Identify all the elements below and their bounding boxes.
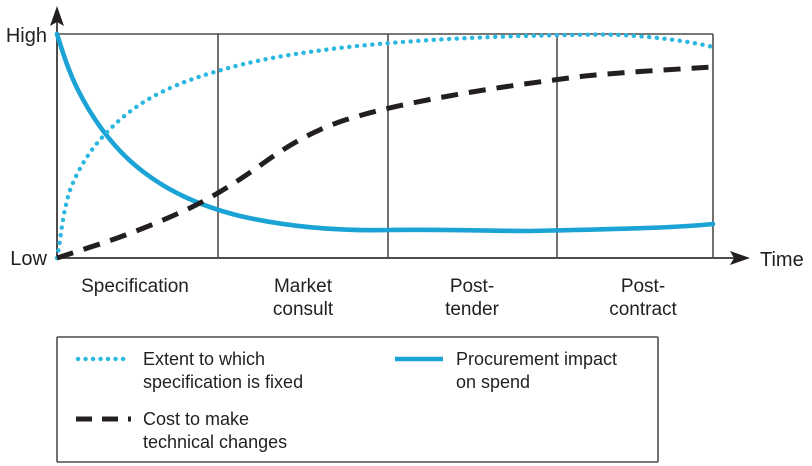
y-tick-low: Low [10,248,47,270]
legend-label-procurement-impact-line1: Procurement impact [456,349,617,369]
y-tick-high: High [6,25,47,47]
legend-label-cost-changes-line1: Cost to make [143,409,249,429]
legend-label-cost-changes-line2: technical changes [143,432,287,452]
x-axis-title: Time [760,249,804,271]
legend-label-procurement-impact-line2: on spend [456,372,530,392]
category-label-post-contract-line1: Post- [621,276,665,297]
legend-label-spec-fixed-line1: Extent to which [143,349,265,369]
chart-container: High Low Time Specification Market consu… [0,0,812,466]
category-label-post-contract-line2: contract [609,299,677,320]
category-label-specification-line1: Specification [81,276,189,297]
series-specification-fixed [57,35,713,258]
category-label-post-tender-line1: Post- [450,276,494,297]
category-label-market-consult-line1: Market [274,276,333,297]
series-group [57,34,713,258]
procurement-impact-chart: High Low Time Specification Market consu… [0,0,812,466]
legend-label-spec-fixed-line2: specification is fixed [143,372,303,392]
category-label-market-consult-line2: consult [273,299,334,320]
category-label-post-tender-line2: tender [445,299,500,320]
series-procurement-impact [57,34,713,231]
category-labels: Specification Market consult Post- tende… [81,276,677,320]
chart-legend: Extent to which specification is fixed P… [57,337,658,462]
